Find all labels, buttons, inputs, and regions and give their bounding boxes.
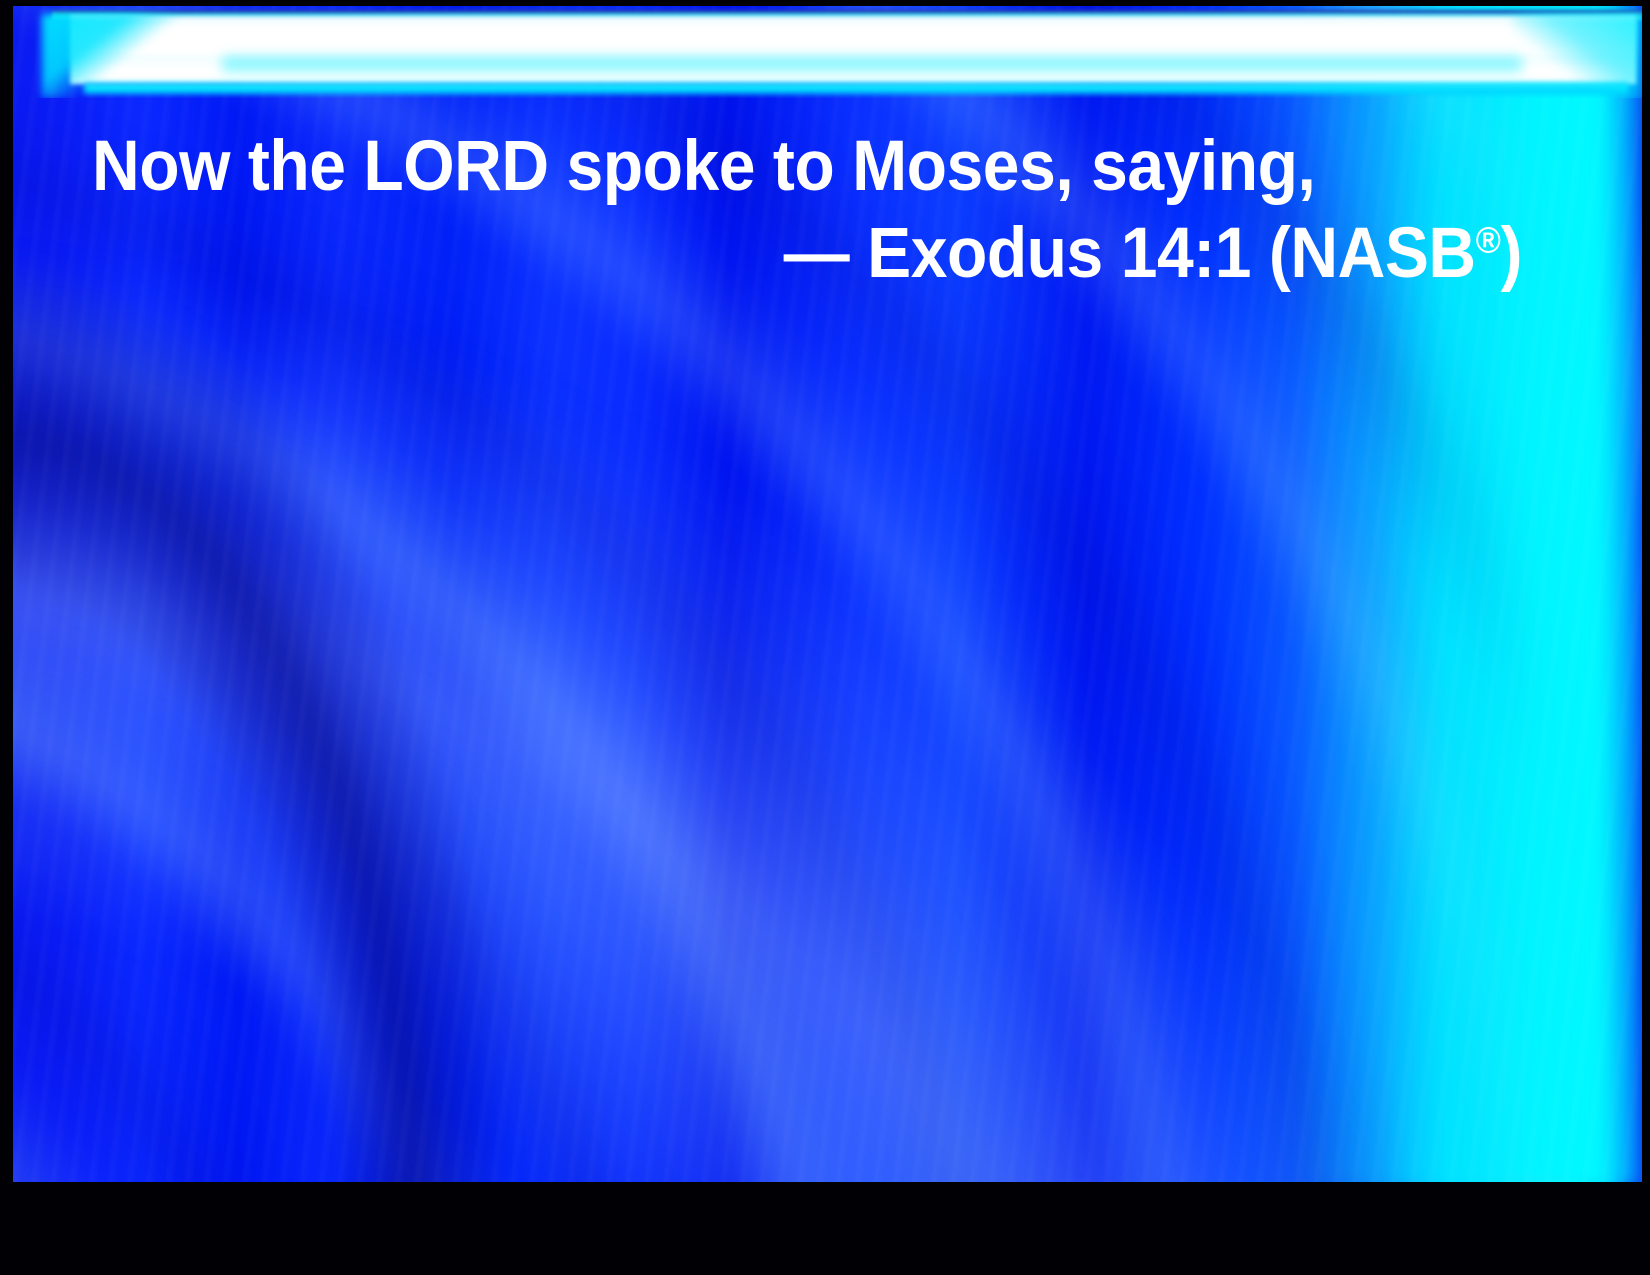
- verse-reference-suffix: ): [1500, 214, 1522, 293]
- banner-cyan-bottom-edge: [84, 82, 1628, 94]
- frame-edge-right: [1642, 0, 1650, 1275]
- verse-reference-prefix: — Exodus 14:1 (NASB: [784, 214, 1476, 293]
- banner-cyan-mid-glow: [222, 54, 1522, 76]
- banner-left-notch: [42, 14, 182, 98]
- slide-canvas: Now the LORD spoke to Moses, saying, — E…: [12, 6, 1642, 1182]
- frame-edge-left: [0, 0, 13, 1275]
- slide-root: Now the LORD spoke to Moses, saying, — E…: [0, 0, 1650, 1275]
- frame-edge-bottom: [0, 1182, 1650, 1275]
- frame-edge-top: [0, 0, 1650, 6]
- banner-right-notch: [1512, 14, 1642, 98]
- verse-block: Now the LORD spoke to Moses, saying, — E…: [92, 124, 1522, 297]
- verse-text-line: Now the LORD spoke to Moses, saying,: [92, 124, 1422, 211]
- top-banner: [12, 6, 1642, 98]
- verse-reference-line: — Exodus 14:1 (NASB®): [192, 211, 1522, 298]
- slide-frame: Now the LORD spoke to Moses, saying, — E…: [0, 0, 1650, 1275]
- registered-trademark-icon: ®: [1476, 219, 1501, 260]
- verse-reference-inner: — Exodus 14:1 (NASB®): [784, 211, 1522, 298]
